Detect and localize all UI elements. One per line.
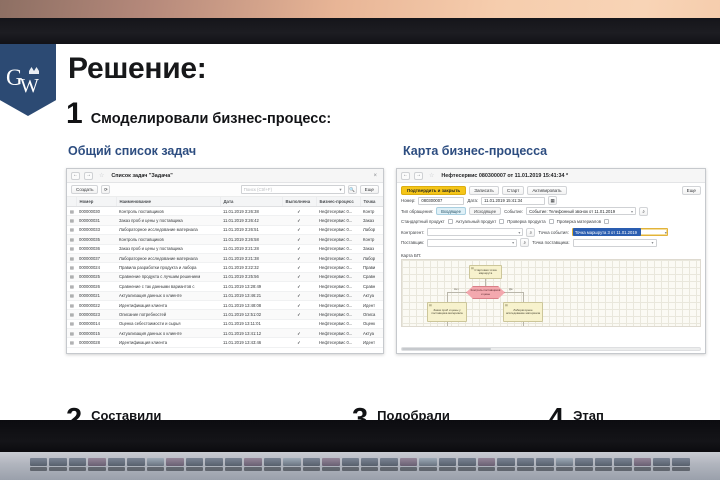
route-point-label: Точка события: — [538, 230, 568, 235]
row-date: 11.01.2019 13:46:21 — [220, 291, 282, 300]
row-process: Нефтесервис 0... — [316, 310, 360, 319]
keyboard-key — [283, 458, 300, 466]
event-field[interactable]: Событие: Телефонный звонок от 11.01.2019… — [526, 207, 636, 215]
row-process: Нефтесервис 0... — [316, 272, 360, 281]
page-title: Решение: — [68, 52, 206, 86]
row-date: 11.01.2019 13:41:12 — [220, 329, 282, 338]
row-name: Лабораторное исследование материала — [116, 225, 220, 234]
node-icon: ▤ — [471, 267, 474, 270]
row-process: Нефтесервис 0... — [316, 225, 360, 234]
edge-label-yes: Да — [509, 287, 512, 291]
diagram-node-decision[interactable]: Контроль поставщиков и цены — [466, 286, 505, 299]
open-contractor-button[interactable]: ⌕ — [526, 228, 535, 237]
row-number: 000000023 — [76, 310, 116, 319]
row-point: Сравн — [360, 272, 384, 281]
column-header-process[interactable]: Бизнес-процесс — [316, 197, 360, 207]
row-icon: ▤ — [67, 291, 76, 300]
row-number: 000000033 — [76, 225, 116, 234]
node-label: Контроль поставщиков и цены — [470, 289, 501, 295]
row-point: Оценк — [360, 319, 384, 328]
row-done: ✓ — [282, 272, 316, 281]
diagram-node-start[interactable]: ▤ Стартовая точка маршрута — [469, 265, 502, 279]
row-process: Нефтесервис 0... — [316, 291, 360, 300]
search-icon[interactable]: 🔍 — [348, 185, 357, 194]
row-name: Заказ проб и цены у поставщика — [116, 216, 220, 225]
row-point: Заказ — [360, 216, 384, 225]
edge-start-to-decision — [485, 279, 486, 287]
open-supplier-button[interactable]: ⌕ — [520, 238, 529, 247]
keyboard-key — [380, 458, 397, 466]
row-process: Нефтесервис 0... — [316, 207, 360, 216]
row-date: 11.01.2019 3:21:38 — [220, 253, 282, 262]
task-list-toolbar: Создать ⟳ Поиск (Ctrl+F) ▾ 🔍 Еще — [67, 183, 383, 197]
row-number: 000000036 — [76, 244, 116, 253]
row-done — [282, 319, 316, 328]
keyboard-key — [166, 458, 183, 466]
keyboard-key-shadow — [244, 467, 261, 471]
keyboard-key-shadow — [653, 467, 670, 471]
keyboard-key — [419, 458, 436, 466]
row-name: Контроль поставщиков — [116, 235, 220, 244]
row-date: 11.01.2019 3:26:42 — [220, 216, 282, 225]
row-process: Нефтесервис 0... — [316, 244, 360, 253]
keyboard-key — [536, 458, 553, 466]
keyboard-key — [556, 458, 573, 466]
keyboard-key — [439, 458, 456, 466]
chevron-down-icon[interactable]: ▾ — [339, 187, 341, 193]
row-icon: ▤ — [67, 225, 76, 234]
keyboard-key-shadow — [536, 467, 553, 471]
row-icon: ▤ — [67, 319, 76, 328]
row-number: 000000014 — [76, 319, 116, 328]
star-icon[interactable]: ☆ — [429, 172, 434, 179]
keyboard-key-shadow — [361, 467, 378, 471]
keyboard-key — [458, 458, 475, 466]
step-1-heading: 1 Смоделировали бизнес-процесс: — [66, 100, 331, 127]
row-point: Заказ — [360, 244, 384, 253]
svg-text:W: W — [20, 75, 39, 97]
row-done: ✓ — [282, 300, 316, 309]
row-icon: ▤ — [67, 310, 76, 319]
keyboard-key — [127, 458, 144, 466]
column-header-icon[interactable] — [67, 197, 76, 207]
table-row[interactable]: ▤000000035Контроль поставщиков11.01.2019… — [67, 235, 384, 244]
row-done: ✓ — [282, 291, 316, 300]
row-point: Описа — [360, 310, 384, 319]
diagram-node-order[interactable]: ▤ Заказ проб и цены у поставщика материа… — [427, 302, 467, 322]
create-button[interactable]: Создать — [71, 185, 98, 194]
row-done: ✓ — [282, 244, 316, 253]
node-label: Стартовая точка маршрута — [471, 269, 500, 276]
row-icon: ▤ — [67, 216, 76, 225]
keyboard-key-shadow — [303, 467, 320, 471]
keyboard-key — [88, 458, 105, 466]
task-table-body: ▤000000030Контроль поставщиков11.01.2019… — [67, 207, 384, 348]
keyboard-key-shadow — [517, 467, 534, 471]
material-check-label: Проверка материалов — [557, 219, 601, 224]
back-icon[interactable]: ← — [71, 172, 80, 180]
column-header-number[interactable]: Номер — [76, 197, 116, 207]
row-date: 11.01.2019 3:26:58 — [220, 235, 282, 244]
keyboard-key-shadow — [439, 467, 456, 471]
row-process: Нефтесервис 0... — [316, 282, 360, 291]
row-point: Прави — [360, 263, 384, 272]
process-map-titlebar: ← → ☆ Нефтесервис 080300007 от 11.01.201… — [397, 169, 705, 183]
contractor-field[interactable]: ▾ — [427, 228, 523, 236]
row-name: Идентификация клиента — [116, 300, 220, 309]
supplier-point-field[interactable]: ▾ — [573, 239, 657, 247]
open-event-button[interactable]: ⌕ — [639, 207, 648, 216]
keyboard-key — [497, 458, 514, 466]
laptop-screen: Решение: 1 Смоделировали бизнес-процесс:… — [0, 44, 720, 422]
keyboard-key — [186, 458, 203, 466]
product-check-label: Проверка продукта — [507, 219, 545, 224]
row-name: Описание потребностей — [116, 310, 220, 319]
material-check-checkbox[interactable] — [604, 219, 609, 224]
actual-product-label: Актуальный продукт — [456, 219, 497, 224]
row-number: 000000028 — [76, 338, 116, 347]
node-label: Лабораторное исследование материала — [505, 309, 541, 316]
column-header-done[interactable]: Выполнена — [282, 197, 316, 207]
standard-product-label: Стандартный продукт — [401, 219, 445, 224]
scrollbar-thumb[interactable] — [402, 348, 491, 350]
keyboard-key-shadow — [497, 467, 514, 471]
keyboard-key — [614, 458, 631, 466]
row-icon: ▤ — [67, 300, 76, 309]
step-1-number: 1 — [66, 100, 83, 127]
table-row[interactable]: ▤000000028Идентификация клиента11.01.201… — [67, 338, 384, 347]
chevron-down-icon[interactable]: ▾ — [516, 230, 520, 235]
row-point: Контр — [360, 207, 384, 216]
row-name: Актуализация данных о клиенте — [116, 329, 220, 338]
keyboard-key — [575, 458, 592, 466]
contractor-label: Контрагент: — [401, 230, 424, 235]
number-label: Номер: — [401, 198, 415, 203]
date-label: Дата: — [467, 198, 478, 203]
table-row[interactable]: ▤000000031Заказ проб и цены у поставщика… — [67, 216, 384, 225]
activate-button[interactable]: Активировать — [527, 186, 566, 195]
supplier-field[interactable]: ▾ — [427, 239, 517, 247]
keyboard-key-shadow — [166, 467, 183, 471]
confirm-close-button[interactable]: Подтвердить и закрыть — [401, 186, 466, 195]
row-process: Нефтесервис 0... — [316, 338, 360, 347]
supplier-point-label: Точка поставщика: — [532, 240, 569, 245]
row-name: Актуализация данных о клиенте — [116, 291, 220, 300]
search-input[interactable]: Поиск (Ctrl+F) ▾ — [241, 185, 345, 194]
row-date: 11.01.2019 3:21:28 — [220, 244, 282, 253]
keyboard-key-shadow — [283, 467, 300, 471]
node-label: Заказ проб и цены у поставщика материала — [429, 309, 465, 316]
search-placeholder: Поиск (Ctrl+F) — [244, 187, 272, 192]
table-header-row: Номер Наименование Дата Выполнена Бизнес… — [67, 197, 384, 207]
bottom-steps: 2 Составили техническое задание 3 Подобр… — [0, 362, 720, 422]
keyboard-key-shadow — [127, 467, 144, 471]
row-name: Контроль поставщиков — [116, 207, 220, 216]
row-name: Сравнение с так данными вариантов с — [116, 282, 220, 291]
keyboard-key-shadow — [342, 467, 359, 471]
type-event-row: Тип обращения: Входящее Исходящее Событи… — [401, 207, 701, 215]
star-icon[interactable]: ☆ — [99, 172, 104, 179]
column-header-date[interactable]: Дата — [220, 197, 282, 207]
keyboard-key — [400, 458, 417, 466]
row-number: 000000021 — [76, 291, 116, 300]
row-date: 11.01.2019 13:48:08 — [220, 300, 282, 309]
row-number: 000000030 — [76, 207, 116, 216]
number-date-row: Номер: 080300007 Дата: 11.01.2019 15:41:… — [401, 197, 701, 205]
form-action-row: Подтвердить и закрыть Записать Старт Акт… — [401, 186, 701, 194]
checkbox-row: Стандартный продукт Актуальный продукт П… — [401, 218, 701, 226]
keyboard-key — [69, 458, 86, 466]
forward-icon[interactable]: → — [414, 172, 423, 180]
row-done: ✓ — [282, 225, 316, 234]
edge-decision-to-left-v — [447, 292, 448, 302]
chevron-down-icon[interactable]: ▾ — [510, 240, 514, 245]
keyboard-key — [672, 458, 689, 466]
row-done: ✓ — [282, 253, 316, 262]
gw-monogram-icon: G W — [5, 63, 51, 97]
keyboard-key-shadow — [69, 467, 86, 471]
row-number: 000000037 — [76, 253, 116, 262]
step-1-label: Смоделировали бизнес-процесс: — [91, 111, 332, 127]
route-point-value: Точка маршрута 3 от 11.01.2019 — [573, 228, 641, 236]
row-number: 000000025 — [76, 272, 116, 281]
chevron-down-icon[interactable]: ▾ — [629, 209, 633, 214]
date-field[interactable]: 11.01.2019 15:41:34 — [481, 197, 545, 205]
process-diagram[interactable]: Нет Да ▤ Стартовая точка маршрута Контро… — [401, 259, 701, 327]
table-row[interactable]: ▤000000037Лабораторное исследование мате… — [67, 253, 384, 262]
row-point: Актуа — [360, 291, 384, 300]
keyboard-key-shadow — [108, 467, 125, 471]
forward-icon[interactable]: → — [84, 172, 93, 180]
keyboard-key-shadow — [478, 467, 495, 471]
row-done: ✓ — [282, 263, 316, 272]
keyboard-key-shadow — [672, 467, 689, 471]
keyboard-key-shadow — [575, 467, 592, 471]
keyboard-key — [517, 458, 534, 466]
row-icon: ▤ — [67, 338, 76, 347]
more-button[interactable]: Еще — [360, 185, 379, 194]
diagram-node-lab[interactable]: ▤ Лабораторное исследование материала — [503, 302, 543, 322]
laptop-base — [0, 420, 720, 456]
row-process: Нефтесервис 0... — [316, 253, 360, 262]
contract-point-row: Контрагент: ▾ ⌕ Точка события: Точка мар… — [401, 228, 701, 236]
keyboard-key — [342, 458, 359, 466]
row-point: Контр — [360, 235, 384, 244]
diagram-label: Карта БП: — [397, 252, 705, 258]
chevron-down-icon[interactable]: ▾ — [649, 240, 653, 245]
row-point: Лабор — [360, 225, 384, 234]
row-process: Нефтесервис 0... — [316, 329, 360, 338]
keyboard-key — [49, 458, 66, 466]
row-number: 000000035 — [76, 235, 116, 244]
task-list-window: ← → ☆ Список задач "Задача" × Создать ⟳ … — [66, 168, 384, 354]
keyboard-key-shadow — [205, 467, 222, 471]
keyboard-key-shadow — [147, 467, 164, 471]
column-header-name[interactable]: Наименование — [116, 197, 220, 207]
row-date: 11.01.2019 3:26:38 — [220, 207, 282, 216]
row-name: Заказ проб и цены у поставщика — [116, 244, 220, 253]
chevron-down-icon[interactable]: ▾ — [663, 230, 667, 235]
keyboard-key — [264, 458, 281, 466]
standard-product-checkbox[interactable] — [448, 219, 453, 224]
table-row[interactable]: ▤000000033Лабораторное исследование мате… — [67, 225, 384, 234]
row-date: 11.01.2019 3:22:32 — [220, 263, 282, 272]
row-icon: ▤ — [67, 263, 76, 272]
keyboard-key-shadow — [634, 467, 651, 471]
row-icon: ▤ — [67, 272, 76, 281]
row-name: Лабораторное исследование материала — [116, 253, 220, 262]
table-row[interactable]: ▤000000021Актуализация данных о клиенте1… — [67, 291, 384, 300]
keyboard-key — [225, 458, 242, 466]
supplier-row: Поставщик: ▾ ⌕ Точка поставщика: ▾ — [401, 239, 701, 247]
row-number: 000000022 — [76, 300, 116, 309]
keyboard-key-shadow — [380, 467, 397, 471]
row-done: ✓ — [282, 329, 316, 338]
keyboard-key-shadow — [400, 467, 417, 471]
process-map-title: Нефтесервис 080300007 от 11.01.2019 15:4… — [441, 173, 568, 179]
edge-decision-to-right-v — [523, 292, 524, 302]
table-row[interactable]: ▤000000026Сравнение с так данными вариан… — [67, 282, 384, 291]
row-name: Правила разработки продукта и лабора — [116, 263, 220, 272]
event-label: Событие: — [504, 209, 523, 214]
keyboard-key — [108, 458, 125, 466]
supplier-label: Поставщик: — [401, 240, 424, 245]
row-icon: ▤ — [67, 235, 76, 244]
keyboard-key-shadow — [595, 467, 612, 471]
calendar-icon[interactable]: ▦ — [548, 196, 557, 205]
row-process: Нефтесервис 0... — [316, 235, 360, 244]
column-header-point[interactable]: Точка — [360, 197, 384, 207]
row-point: Идент — [360, 338, 384, 347]
keyboard-key-shadow — [30, 467, 47, 471]
row-name: Сравнение продукта с лучшим решением — [116, 272, 220, 281]
keyboard-key — [244, 458, 261, 466]
back-icon[interactable]: ← — [401, 172, 410, 180]
actual-product-checkbox[interactable] — [499, 219, 504, 224]
horizontal-scrollbar[interactable] — [401, 347, 701, 351]
row-point: Сравн — [360, 282, 384, 291]
edge-right-to-end-v — [523, 322, 524, 327]
presentation-slide: Решение: 1 Смоделировали бизнес-процесс:… — [0, 44, 720, 422]
keyboard-shadow — [30, 467, 690, 473]
row-date: 11.01.2019 13:28:49 — [220, 282, 282, 291]
table-row[interactable]: ▤000000030Контроль поставщиков11.01.2019… — [67, 207, 384, 216]
refresh-icon[interactable]: ⟳ — [101, 185, 110, 194]
keyboard-key — [634, 458, 651, 466]
row-done: ✓ — [282, 235, 316, 244]
slide-stage: Решение: 1 Смоделировали бизнес-процесс:… — [0, 0, 720, 480]
number-field[interactable]: 080300007 — [418, 197, 464, 205]
row-number: 000000024 — [76, 263, 116, 272]
product-check-checkbox[interactable] — [549, 219, 554, 224]
row-number: 000000015 — [76, 329, 116, 338]
subheading-task-list: Общий список задач — [68, 144, 196, 158]
keyboard-key-shadow — [49, 467, 66, 471]
table-row[interactable]: ▤000000014Оценка себестоимости и сырья11… — [67, 319, 384, 328]
row-name: Оценка себестоимости и сырья — [116, 319, 220, 328]
close-icon[interactable]: × — [373, 173, 379, 179]
start-button[interactable]: Старт — [502, 186, 524, 195]
save-button[interactable]: Записать — [469, 186, 499, 195]
keyboard-key — [361, 458, 378, 466]
task-table: Номер Наименование Дата Выполнена Бизнес… — [67, 197, 384, 348]
row-done: ✓ — [282, 207, 316, 216]
row-number: 000000026 — [76, 282, 116, 291]
more-button[interactable]: Еще — [682, 186, 701, 195]
keyboard-key-shadow — [88, 467, 105, 471]
node-icon: ▤ — [429, 304, 432, 307]
row-icon: ▤ — [67, 329, 76, 338]
keyboard-key-shadow — [225, 467, 242, 471]
table-row[interactable]: ▤000000036Заказ проб и цены у поставщика… — [67, 244, 384, 253]
route-point-field[interactable]: Точка маршрута 3 от 11.01.2019 ▾ — [572, 228, 668, 236]
tab-outgoing[interactable]: Исходящее — [469, 207, 501, 215]
row-done: ✓ — [282, 282, 316, 291]
keyboard-key — [303, 458, 320, 466]
keyboard-key — [478, 458, 495, 466]
subheading-process-map: Карта бизнес-процесса — [403, 144, 547, 158]
row-process: Нефтесервис 0... — [316, 263, 360, 272]
row-date: 11.01.2019 12:51:02 — [220, 310, 282, 319]
keyboard-key-shadow — [419, 467, 436, 471]
row-process: Нефтесервис 0... — [316, 300, 360, 309]
node-icon: ▤ — [505, 304, 508, 307]
row-point: Идент — [360, 300, 384, 309]
row-process: Нефтесервис 0... — [316, 319, 360, 328]
process-form: Подтвердить и закрыть Записать Старт Акт… — [397, 183, 705, 252]
row-date: 11.01.2019 13:11:01 — [220, 319, 282, 328]
keyboard-key-shadow — [186, 467, 203, 471]
table-row[interactable]: ▤000000025Сравнение продукта с лучшим ре… — [67, 272, 384, 281]
row-done: ✓ — [282, 216, 316, 225]
keyboard-key-shadow — [556, 467, 573, 471]
table-row[interactable]: ▤000000023Описание потребностей11.01.201… — [67, 310, 384, 319]
row-number: 000000031 — [76, 216, 116, 225]
keyboard-key — [322, 458, 339, 466]
row-point: Лабор — [360, 253, 384, 262]
task-list-title: Список задач "Задача" — [111, 173, 172, 179]
row-date: 11.01.2019 3:26:51 — [220, 225, 282, 234]
keyboard-key — [30, 458, 47, 466]
row-icon: ▤ — [67, 244, 76, 253]
row-date: 11.01.2019 3:25:56 — [220, 272, 282, 281]
keyboard-key-shadow — [458, 467, 475, 471]
keyboard-key — [653, 458, 670, 466]
row-done: ✓ — [282, 338, 316, 347]
table-row[interactable]: ▤000000022Идентификация клиента11.01.201… — [67, 300, 384, 309]
table-row[interactable]: ▤000000015Актуализация данных о клиенте1… — [67, 329, 384, 338]
row-date: 11.01.2019 13:43:46 — [220, 338, 282, 347]
table-row[interactable]: ▤000000024Правила разработки продукта и … — [67, 263, 384, 272]
tab-incoming[interactable]: Входящее — [436, 207, 466, 215]
type-label: Тип обращения: — [401, 209, 433, 214]
keyboard-key-shadow — [614, 467, 631, 471]
row-point: Актуа — [360, 329, 384, 338]
keyboard-key-shadow — [322, 467, 339, 471]
row-name: Идентификация клиента — [116, 338, 220, 347]
row-process: Нефтесервис 0... — [316, 216, 360, 225]
keyboard-key — [205, 458, 222, 466]
row-icon: ▤ — [67, 207, 76, 216]
row-done: ✓ — [282, 310, 316, 319]
row-icon: ▤ — [67, 282, 76, 291]
edge-label-no: Нет — [454, 287, 459, 291]
keyboard-key — [595, 458, 612, 466]
event-value: Событие: Телефонный звонок от 11.01.2019 — [529, 209, 615, 214]
keyboard-key — [147, 458, 164, 466]
task-list-titlebar: ← → ☆ Список задач "Задача" × — [67, 169, 383, 183]
edge-left-to-end-v — [447, 322, 448, 327]
